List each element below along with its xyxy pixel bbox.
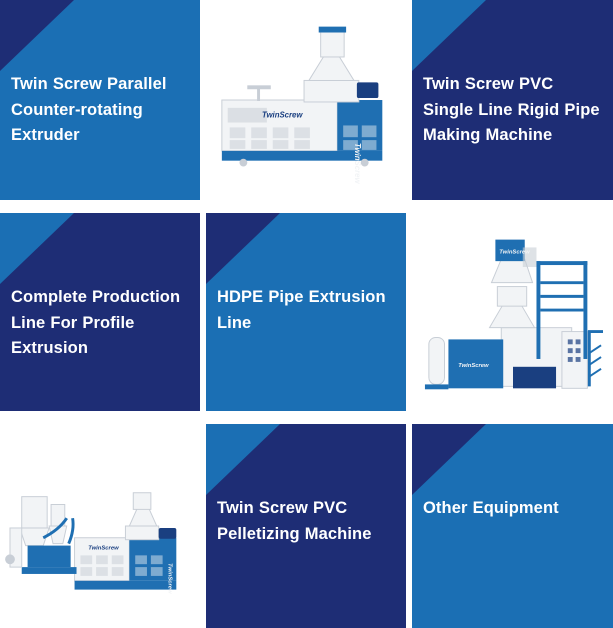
category-title: Other Equipment [423, 496, 601, 522]
category-title: Twin Screw PVC Pelletizing Machine [217, 496, 394, 547]
category-card-twin-screw-parallel-counter-rotating-extruder[interactable]: Twin Screw Parallel Counter-rotating Ext… [0, 0, 200, 200]
svg-text:TwinScrew: TwinScrew [88, 545, 119, 551]
svg-text:TwinScrew: TwinScrew [262, 110, 303, 119]
category-title: Complete Production Line For Profile Ext… [11, 285, 188, 362]
category-card-other-equipment[interactable]: Other Equipment [412, 424, 613, 628]
product-photo-twin-screw-extruder[interactable]: TwinScrewTwinScrew [206, 0, 406, 200]
product-photo[interactable]: TwinScrewTwinScrew [206, 0, 406, 200]
category-tile[interactable]: Twin Screw PVC Single Line Rigid Pipe Ma… [412, 0, 613, 200]
svg-text:TwinScrew: TwinScrew [353, 143, 362, 184]
category-title: Twin Screw Parallel Counter-rotating Ext… [11, 72, 188, 149]
corner-triangle-icon [0, 213, 74, 284]
category-card-complete-production-line-for-profile-extrusion[interactable]: Complete Production Line For Profile Ext… [0, 213, 200, 411]
product-photo[interactable]: TwinScrewTwinScrew [0, 424, 200, 628]
product-photo-pelletizing-line[interactable]: TwinScrewTwinScrew [0, 424, 200, 628]
machine-illustration-extruder: TwinScrewTwinScrew [208, 10, 404, 191]
category-tile[interactable]: Twin Screw PVC Pelletizing Machine [206, 424, 406, 628]
corner-triangle-icon [206, 424, 280, 495]
category-card-hdpe-pipe-extrusion-line[interactable]: HDPE Pipe Extrusion Line [206, 213, 406, 411]
category-tile[interactable]: Other Equipment [412, 424, 613, 628]
category-tile[interactable]: HDPE Pipe Extrusion Line [206, 213, 406, 411]
category-card-twin-screw-pvc-pelletizing-machine[interactable]: Twin Screw PVC Pelletizing Machine [206, 424, 406, 628]
product-photo[interactable]: TwinScrewTwinScrew [412, 213, 613, 411]
product-category-grid: Twin Screw Parallel Counter-rotating Ext… [0, 0, 613, 628]
machine-illustration-pelletizer: TwinScrewTwinScrew [2, 436, 198, 617]
category-tile[interactable]: Complete Production Line For Profile Ext… [0, 213, 200, 411]
category-tile[interactable]: Twin Screw Parallel Counter-rotating Ext… [0, 0, 200, 200]
corner-triangle-icon [412, 0, 486, 71]
category-title: Twin Screw PVC Single Line Rigid Pipe Ma… [423, 72, 601, 149]
corner-triangle-icon [206, 213, 280, 284]
machine-illustration-mixer: TwinScrewTwinScrew [415, 222, 611, 403]
product-photo-mixer-unit[interactable]: TwinScrewTwinScrew [412, 213, 613, 411]
svg-text:TwinScrew: TwinScrew [458, 362, 489, 368]
category-title: HDPE Pipe Extrusion Line [217, 285, 394, 336]
svg-text:TwinScrew: TwinScrew [499, 249, 530, 255]
corner-triangle-icon [0, 0, 74, 71]
svg-text:TwinScrew: TwinScrew [166, 563, 172, 594]
category-card-twin-screw-pvc-single-line-rigid-pipe-making-machine[interactable]: Twin Screw PVC Single Line Rigid Pipe Ma… [412, 0, 613, 200]
corner-triangle-icon [412, 424, 486, 495]
